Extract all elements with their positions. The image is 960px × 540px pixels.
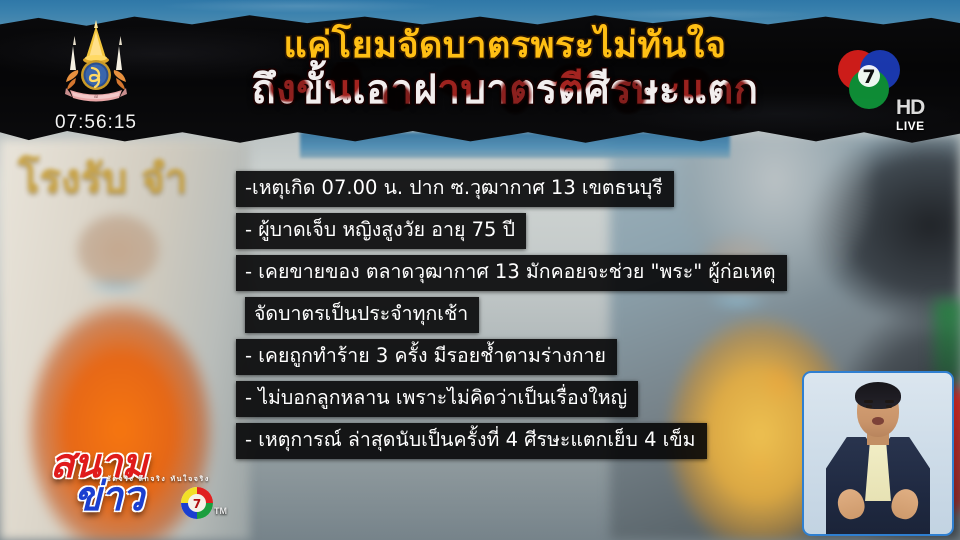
- broadcast-screen: โรงรับ จำ: [0, 0, 960, 540]
- program-logo-trademark: TM: [214, 506, 227, 516]
- bullet-row: จัดบาตรเป็นประจำทุกเช้า: [236, 297, 787, 339]
- sign-language-interpreter-panel: [802, 371, 954, 536]
- interpreter-hair: [855, 382, 901, 409]
- headline-line-1: แค่โยมจัดบาตรพระไม่ทันใจ: [175, 26, 835, 66]
- program-logo-line-2: ข่าว: [74, 477, 143, 517]
- channel-7-logo-icon: 7: [836, 48, 902, 110]
- live-badge: LIVE: [896, 119, 925, 133]
- broadcast-clock: 07:56:15: [30, 112, 162, 134]
- list-item: จัดบาตรเป็นประจำทุกเช้า: [245, 297, 479, 333]
- royal-thai-emblem-icon: ๗: [48, 18, 144, 106]
- bullet-row: - เคยถูกทำร้าย 3 ครั้ง มีรอยช้ำตามร่างกา…: [236, 339, 787, 381]
- list-item: - ผู้บาดเจ็บ หญิงสูงวัย อายุ 75 ปี: [236, 213, 526, 249]
- list-item: - เคยขายของ ตลาดวุฒากาศ 13 มักคอยจะช่วย …: [236, 255, 787, 291]
- bullet-row: -เหตุเกิด 07.00 น. ปาก ซ.วุฒากาศ 13 เขตธ…: [236, 171, 787, 213]
- list-item: - เคยถูกทำร้าย 3 ครั้ง มีรอยช้ำตามร่างกา…: [236, 339, 617, 375]
- background-green-object: [934, 300, 960, 380]
- list-item: - ไม่บอกลูกหลาน เพราะไม่คิดว่าเป็นเรื่อง…: [236, 381, 638, 417]
- bullet-row: - เคยขายของ ตลาดวุฒากาศ 13 มักคอยจะช่วย …: [236, 255, 787, 297]
- bullet-row: - ผู้บาดเจ็บ หญิงสูงวัย อายุ 75 ปี: [236, 213, 787, 255]
- interpreter-eyebrow-right: [885, 400, 894, 403]
- svg-text:7: 7: [193, 497, 201, 511]
- svg-text:๗: ๗: [94, 94, 98, 100]
- interpreter-eye-left: [866, 405, 872, 408]
- svg-text:7: 7: [862, 66, 875, 88]
- headline-line-2-wrapper: ถึงขั้นเอาฝาบาตรตีศีรษะแตก: [252, 68, 759, 112]
- interpreter-eyebrow-left: [864, 400, 873, 403]
- interpreter-mouth: [872, 417, 884, 425]
- headline-block: แค่โยมจัดบาตรพระไม่ทันใจ ถึงขั้นเอาฝาบาต…: [175, 26, 835, 112]
- list-item: - เหตุการณ์ ล่าสุดนับเป็นครั้งที่ 4 ศีรษ…: [236, 423, 707, 459]
- hd-badge: HD: [896, 96, 924, 120]
- channel-7-ball-icon: 7: [180, 486, 214, 520]
- bullet-row: - เหตุการณ์ ล่าสุดนับเป็นครั้งที่ 4 ศีรษ…: [236, 423, 787, 465]
- program-logo: สนาม ชัดจริง ลึกจริง ทันใจจริง ข่าว 7 TM: [36, 444, 226, 528]
- interpreter-eye-right: [886, 405, 892, 408]
- bullet-row: - ไม่บอกลูกหลาน เพราะไม่คิดว่าเป็นเรื่อง…: [236, 381, 787, 423]
- news-bullet-list: -เหตุเกิด 07.00 น. ปาก ซ.วุฒากาศ 13 เขตธ…: [236, 171, 787, 465]
- headline-line-2: ถึงขั้นเอาฝาบาตรตีศีรษะแตก: [252, 68, 759, 112]
- list-item: -เหตุเกิด 07.00 น. ปาก ซ.วุฒากาศ 13 เขตธ…: [236, 171, 674, 207]
